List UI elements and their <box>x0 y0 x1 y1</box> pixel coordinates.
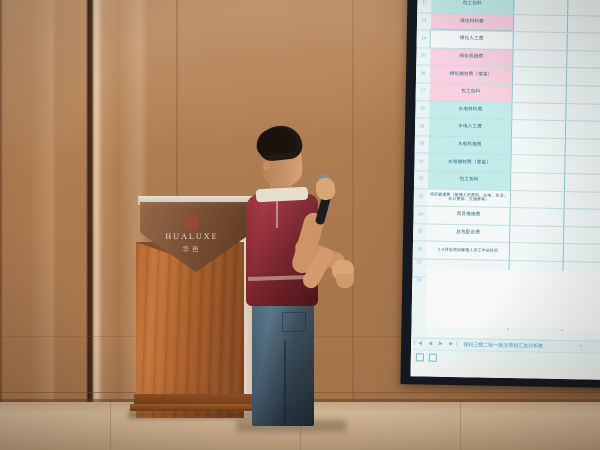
row-number[interactable]: 27 <box>413 260 427 264</box>
page-layout-icon[interactable] <box>429 354 437 362</box>
row-number[interactable]: 18 <box>415 106 429 110</box>
row-number[interactable]: 26 <box>413 247 427 251</box>
hualuxe-mark-icon <box>187 216 198 229</box>
right-fingers <box>336 274 354 288</box>
row-number[interactable]: 13 <box>417 18 431 22</box>
floor-seam <box>110 402 111 450</box>
cell-label[interactable]: 包工包料 <box>430 83 512 102</box>
empty-rows-area <box>425 269 600 330</box>
wall-seam <box>88 0 90 450</box>
lectern-body <box>136 242 244 418</box>
sheet-nav-buttons[interactable]: |◀ ◀ ▶ ▶| <box>414 340 460 347</box>
shirt-placket <box>276 200 278 228</box>
floor-seam <box>460 402 461 450</box>
row-number[interactable]: 23 <box>414 194 428 198</box>
left-hand <box>315 177 337 201</box>
cell-label[interactable]: 包工包料 <box>428 171 510 190</box>
cell-label[interactable]: 绿化材料费 <box>431 12 513 31</box>
cell-label[interactable]: 总包配合费 <box>427 223 509 242</box>
row-number[interactable]: 16 <box>416 71 430 75</box>
projection-screen: 1213141516171819202122232425262728包工包料绿化… <box>400 0 600 388</box>
row-number[interactable]: 21 <box>414 159 428 163</box>
grid-view-icon[interactable] <box>416 353 424 361</box>
add-sheet-button[interactable]: + <box>579 344 582 350</box>
presentation-photo: 1213141516171819202122232425262728包工包料绿化… <box>0 0 600 450</box>
screen-bottom-margin <box>411 362 600 380</box>
cell-label[interactable]: 水电材料费 <box>429 100 511 119</box>
ear <box>263 161 270 171</box>
row-number[interactable]: 12 <box>417 1 431 5</box>
cell-label[interactable]: 水电机械费 <box>429 135 511 154</box>
cell-label[interactable]: 绿化机械费 <box>430 47 512 66</box>
wood-grain <box>136 242 244 418</box>
row-number[interactable]: 14 <box>417 36 431 40</box>
cell-label[interactable]: 绿化人工费 <box>431 30 513 49</box>
row-number[interactable]: 28 <box>412 278 426 282</box>
cell-label[interactable]: 水电人工费 <box>429 118 511 137</box>
row-number[interactable]: 17 <box>416 89 430 93</box>
row-number[interactable]: 20 <box>415 141 429 145</box>
wall-highlight <box>92 0 102 450</box>
trouser-pocket <box>282 312 306 332</box>
sheet-tab-active[interactable]: 保利三期二标一批次项目汇总分析表 <box>463 341 543 349</box>
row-number[interactable]: 25 <box>413 229 427 233</box>
cell-label[interactable]: 项目管理费（管理人员费用、水电、生活、办公费用、交通费等） <box>428 188 510 207</box>
row-number[interactable]: 22 <box>414 177 428 181</box>
row-number[interactable]: 15 <box>416 53 430 57</box>
shirt-collar <box>256 187 309 203</box>
row-number[interactable]: 19 <box>415 124 429 128</box>
cell-label[interactable]: 1-5月份项目管理人员工作总时间 <box>427 241 509 260</box>
row-number[interactable]: 24 <box>413 212 427 216</box>
screen-content: 1213141516171819202122232425262728包工包料绿化… <box>411 0 600 380</box>
cell-label[interactable]: 水电辅材费（零星） <box>428 153 510 172</box>
speaker <box>236 126 364 426</box>
cell-label[interactable]: 绿化辅材费（零星） <box>430 65 512 84</box>
trouser-seam <box>284 340 286 426</box>
cell-label[interactable]: 项目措施费 <box>427 206 509 225</box>
